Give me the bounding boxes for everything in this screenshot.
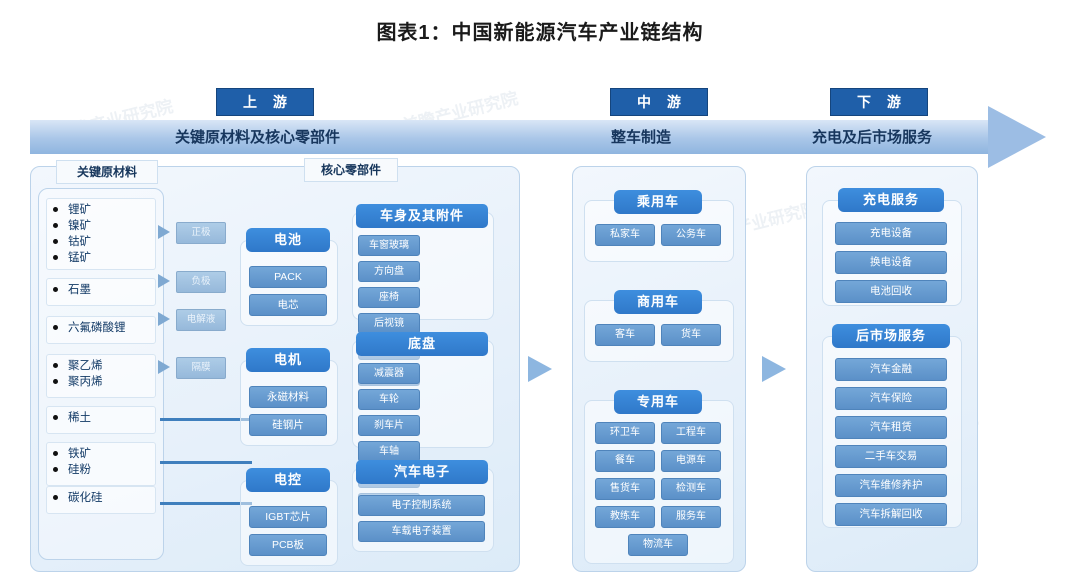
bullet-icon bbox=[53, 207, 58, 212]
tile-inspection-vehicle[interactable]: 检测车 bbox=[661, 478, 721, 500]
tile-silicon-steel[interactable]: 硅钢片 bbox=[249, 414, 327, 436]
bullet-icon bbox=[53, 451, 58, 456]
tile-steering-wheel[interactable]: 方向盘 bbox=[358, 261, 420, 282]
tile-axle[interactable]: 车轴 bbox=[358, 441, 420, 462]
raw-item-label: 六氟磷酸锂 bbox=[68, 322, 126, 334]
raw-group: 六氟磷酸锂 bbox=[46, 316, 156, 344]
tile-wheel[interactable]: 车轮 bbox=[358, 389, 420, 410]
tile-sanitation-vehicle[interactable]: 环卫车 bbox=[595, 422, 655, 444]
tile-magnet-material[interactable]: 永磁材料 bbox=[249, 386, 327, 408]
raw-item-label: 硅粉 bbox=[68, 464, 91, 476]
tile-bus[interactable]: 客车 bbox=[595, 324, 655, 346]
raw-group: 聚乙烯 聚丙烯 bbox=[46, 354, 156, 398]
raw-item-label: 锰矿 bbox=[68, 252, 91, 264]
bullet-icon bbox=[53, 495, 58, 500]
tile-seat[interactable]: 座椅 bbox=[358, 287, 420, 308]
raw-item-label: 聚乙烯 bbox=[68, 360, 103, 372]
raw-item: 铁矿 bbox=[47, 446, 155, 462]
group-title-motor: 电机 bbox=[246, 348, 330, 372]
group-title-aftermarket-service: 后市场服务 bbox=[832, 324, 950, 348]
chip-anode: 负极 bbox=[176, 271, 226, 293]
group-title-battery: 电池 bbox=[246, 228, 330, 252]
bullet-icon bbox=[53, 325, 58, 330]
stage-label-upstream: 关键原材料及核心零部件 bbox=[175, 126, 340, 147]
controller-tiles: IGBT芯片 PCB板 bbox=[240, 500, 336, 556]
bullet-icon bbox=[53, 415, 58, 420]
raw-group: 锂矿 镍矿 钴矿 锰矿 bbox=[46, 198, 156, 270]
raw-item: 聚乙烯 bbox=[47, 358, 155, 374]
battery-tiles: PACK 电芯 bbox=[240, 260, 336, 316]
tile-pcb-board[interactable]: PCB板 bbox=[249, 534, 327, 556]
tile-auto-maintenance[interactable]: 汽车维修养护 bbox=[835, 474, 947, 497]
subheader-raw-materials: 关键原材料 bbox=[56, 160, 158, 184]
diagram-canvas: 前瞻产业研究院 前瞻产业研究院 前瞻产业研究院 前瞻产业研究院 前瞻产业研究院 … bbox=[0, 88, 1080, 582]
stage-label-downstream: 充电及后市场服务 bbox=[812, 126, 932, 147]
raw-item-label: 碳化硅 bbox=[68, 492, 103, 504]
chip-electrolyte: 电解液 bbox=[176, 309, 226, 331]
tile-swapping-equipment[interactable]: 换电设备 bbox=[835, 251, 947, 274]
tile-pack[interactable]: PACK bbox=[249, 266, 327, 288]
tile-engineering-vehicle[interactable]: 工程车 bbox=[661, 422, 721, 444]
passenger-vehicle-tiles: 私家车 公务车 bbox=[584, 216, 732, 254]
stage-label-midstream: 整车制造 bbox=[611, 126, 671, 147]
raw-item-label: 镍矿 bbox=[68, 220, 91, 232]
raw-item: 稀土 bbox=[47, 410, 155, 426]
group-title-passenger-vehicle: 乘用车 bbox=[614, 190, 702, 214]
connector-arrow-icon bbox=[158, 360, 170, 374]
tile-auto-finance[interactable]: 汽车金融 bbox=[835, 358, 947, 381]
group-title-body: 车身及其附件 bbox=[356, 204, 488, 228]
tile-private-car[interactable]: 私家车 bbox=[595, 224, 655, 246]
tile-electronic-control-system[interactable]: 电子控制系统 bbox=[358, 495, 485, 516]
raw-item-label: 聚丙烯 bbox=[68, 376, 103, 388]
stage-badge-upstream: 上 游 bbox=[216, 88, 314, 116]
banner-arrow-head bbox=[988, 106, 1046, 168]
raw-item-label: 石墨 bbox=[68, 284, 91, 296]
raw-item: 石墨 bbox=[47, 282, 155, 298]
motor-tiles: 永磁材料 硅钢片 bbox=[240, 380, 336, 436]
raw-item-label: 钴矿 bbox=[68, 236, 91, 248]
raw-item: 锂矿 bbox=[47, 202, 155, 218]
tile-auto-dismantling-recycling[interactable]: 汽车拆解回收 bbox=[835, 503, 947, 526]
group-title-charging-service: 充电服务 bbox=[838, 188, 944, 212]
raw-item: 硅粉 bbox=[47, 462, 155, 478]
tile-vehicle-electronic-device[interactable]: 车载电子装置 bbox=[358, 521, 485, 542]
stage-badge-midstream: 中 游 bbox=[610, 88, 708, 116]
aftermarket-service-tiles: 汽车金融 汽车保险 汽车租赁 二手车交易 汽车维修养护 汽车拆解回收 bbox=[822, 350, 960, 534]
raw-item-label: 铁矿 bbox=[68, 448, 91, 460]
raw-item-label: 稀土 bbox=[68, 412, 91, 424]
connector-arrow-icon bbox=[158, 225, 170, 239]
bullet-icon bbox=[53, 255, 58, 260]
connector-line bbox=[160, 502, 252, 505]
tile-truck[interactable]: 货车 bbox=[661, 324, 721, 346]
chip-separator: 隔膜 bbox=[176, 357, 226, 379]
raw-group: 石墨 bbox=[46, 278, 156, 306]
group-title-auto-electronics: 汽车电子 bbox=[356, 460, 488, 484]
raw-item: 六氟磷酸锂 bbox=[47, 320, 155, 336]
tile-logistics-vehicle[interactable]: 物流车 bbox=[628, 534, 688, 556]
charging-service-tiles: 充电设备 换电设备 电池回收 bbox=[822, 214, 960, 311]
bullet-icon bbox=[53, 379, 58, 384]
connector-line bbox=[160, 461, 252, 464]
bullet-icon bbox=[53, 287, 58, 292]
tile-vending-vehicle[interactable]: 售货车 bbox=[595, 478, 655, 500]
connector-arrow-icon bbox=[158, 312, 170, 326]
tile-shock-absorber[interactable]: 减震器 bbox=[358, 363, 420, 384]
tile-used-car-trading[interactable]: 二手车交易 bbox=[835, 445, 947, 468]
tile-official-car[interactable]: 公务车 bbox=[661, 224, 721, 246]
tile-auto-leasing[interactable]: 汽车租赁 bbox=[835, 416, 947, 439]
raw-item: 碳化硅 bbox=[47, 490, 155, 506]
tile-power-supply-vehicle[interactable]: 电源车 bbox=[661, 450, 721, 472]
page-title: 图表1：中国新能源汽车产业链结构 bbox=[0, 16, 1080, 45]
tile-cell[interactable]: 电芯 bbox=[249, 294, 327, 316]
special-vehicle-tiles: 环卫车 工程车 餐车 电源车 售货车 检测车 教练车 服务车 物流车 bbox=[584, 414, 732, 564]
raw-item: 镍矿 bbox=[47, 218, 155, 234]
tile-battery-recycling[interactable]: 电池回收 bbox=[835, 280, 947, 303]
tile-charging-equipment[interactable]: 充电设备 bbox=[835, 222, 947, 245]
tile-rear-view-mirror[interactable]: 后视镜 bbox=[358, 313, 420, 334]
raw-group: 稀土 bbox=[46, 406, 156, 434]
raw-group: 铁矿 硅粉 bbox=[46, 442, 156, 486]
group-title-controller: 电控 bbox=[246, 468, 330, 492]
subheader-core-components: 核心零部件 bbox=[304, 158, 398, 182]
tile-driving-school-vehicle[interactable]: 教练车 bbox=[595, 506, 655, 528]
raw-item: 聚丙烯 bbox=[47, 374, 155, 390]
raw-group: 碳化硅 bbox=[46, 486, 156, 514]
tile-food-truck[interactable]: 餐车 bbox=[595, 450, 655, 472]
flow-arrow-icon-upstream-to-midstream bbox=[528, 356, 552, 382]
stage-badge-downstream: 下 游 bbox=[830, 88, 928, 116]
connector-arrow-icon bbox=[158, 274, 170, 288]
flow-arrow-icon-midstream-to-downstream bbox=[762, 356, 786, 382]
group-title-commercial-vehicle: 商用车 bbox=[614, 290, 702, 314]
tile-window-glass[interactable]: 车窗玻璃 bbox=[358, 235, 420, 256]
raw-item: 锰矿 bbox=[47, 250, 155, 266]
bullet-icon bbox=[53, 239, 58, 244]
tile-auto-insurance[interactable]: 汽车保险 bbox=[835, 387, 947, 410]
tile-igbt-chip[interactable]: IGBT芯片 bbox=[249, 506, 327, 528]
chip-cathode: 正极 bbox=[176, 222, 226, 244]
bullet-icon bbox=[53, 467, 58, 472]
raw-item: 钴矿 bbox=[47, 234, 155, 250]
raw-item-label: 锂矿 bbox=[68, 204, 91, 216]
group-title-chassis: 底盘 bbox=[356, 332, 488, 356]
auto-electronics-tiles: 电子控制系统 车载电子装置 bbox=[352, 488, 492, 549]
bullet-icon bbox=[53, 363, 58, 368]
group-title-special-vehicle: 专用车 bbox=[614, 390, 702, 414]
bullet-icon bbox=[53, 223, 58, 228]
tile-service-vehicle[interactable]: 服务车 bbox=[661, 506, 721, 528]
tile-brake-pad[interactable]: 刹车片 bbox=[358, 415, 420, 436]
commercial-vehicle-tiles: 客车 货车 bbox=[584, 316, 732, 354]
connector-line bbox=[160, 418, 252, 421]
